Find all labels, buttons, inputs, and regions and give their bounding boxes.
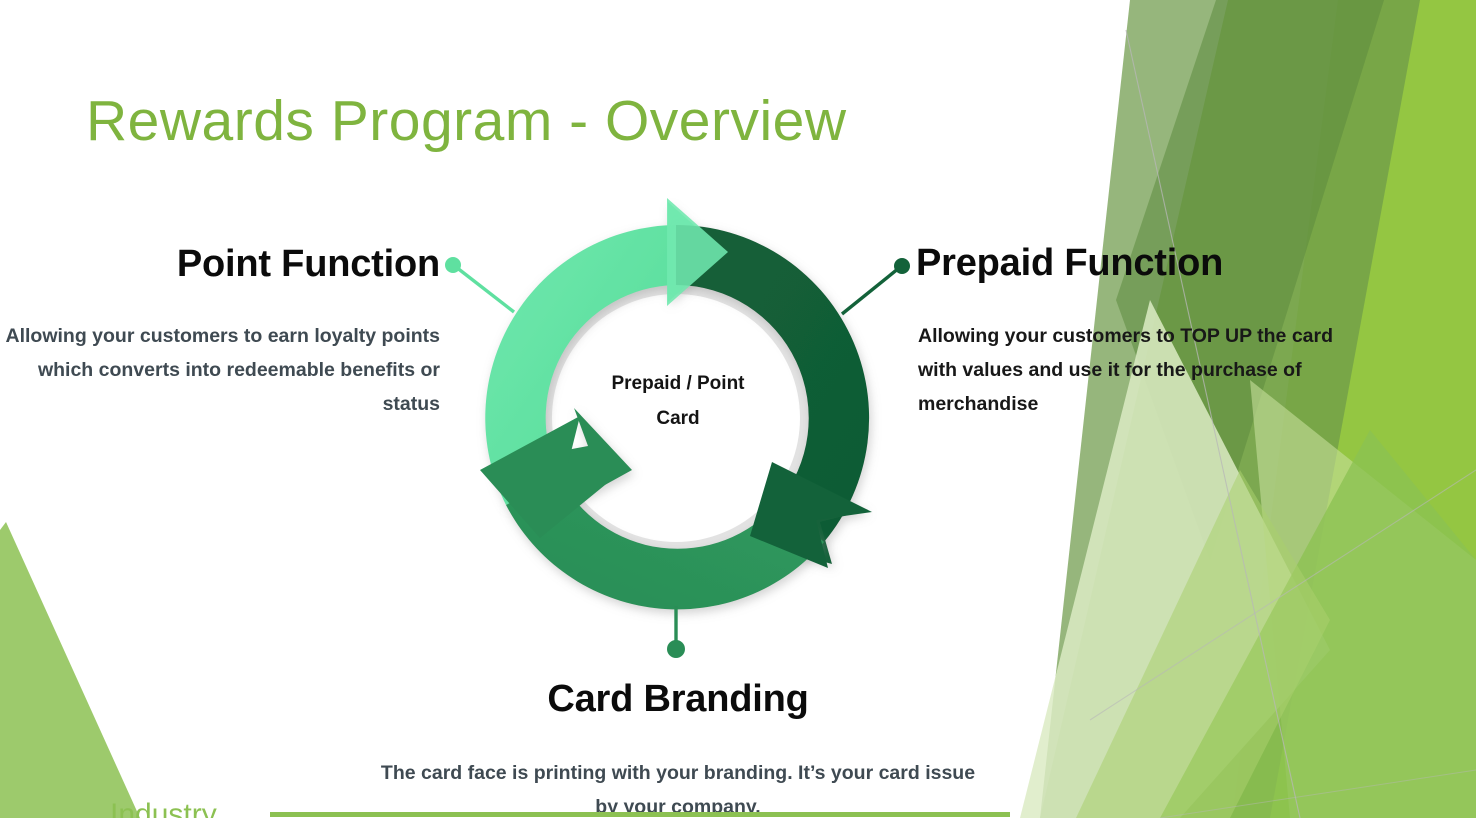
slide-canvas: Rewards Program - Overview [0,0,1476,818]
decor-right-mid [1160,430,1476,818]
connector-dot-prepaid-function [894,258,910,274]
callout-heading-point-function: Point Function [0,244,440,286]
callout-body-point-function: Allowing your customers to earn loyalty … [0,320,440,422]
decor-hairline-2 [1090,470,1476,720]
decor-right-pale-3 [1250,380,1476,818]
callout-body-prepaid-function: Allowing your customers to TOP UP the ca… [918,320,1348,422]
footer-rule [270,812,1010,817]
connector-dot-point-function [445,257,461,273]
cycle-center-label-line2: Card [556,401,800,436]
decor-left-wedge [0,522,140,818]
connector-point-function [445,257,514,312]
cycle-center-label-line1: Prepaid / Point [556,366,800,401]
callout-heading-card-branding: Card Branding [428,679,928,721]
decor-right-pale-4 [1076,470,1330,818]
callout-heading-prepaid-function: Prepaid Function [916,243,1436,285]
connector-prepaid-function [842,258,910,314]
decor-hairline-1 [1126,30,1300,818]
callout-body-card-branding: The card face is printing with your bran… [368,757,988,818]
connector-card-branding [667,606,685,658]
footer-label: Industry [110,800,280,818]
decor-hairline-3 [1160,770,1476,818]
cycle-center-label: Prepaid / Point Card [556,366,800,436]
connector-dot-card-branding [667,640,685,658]
